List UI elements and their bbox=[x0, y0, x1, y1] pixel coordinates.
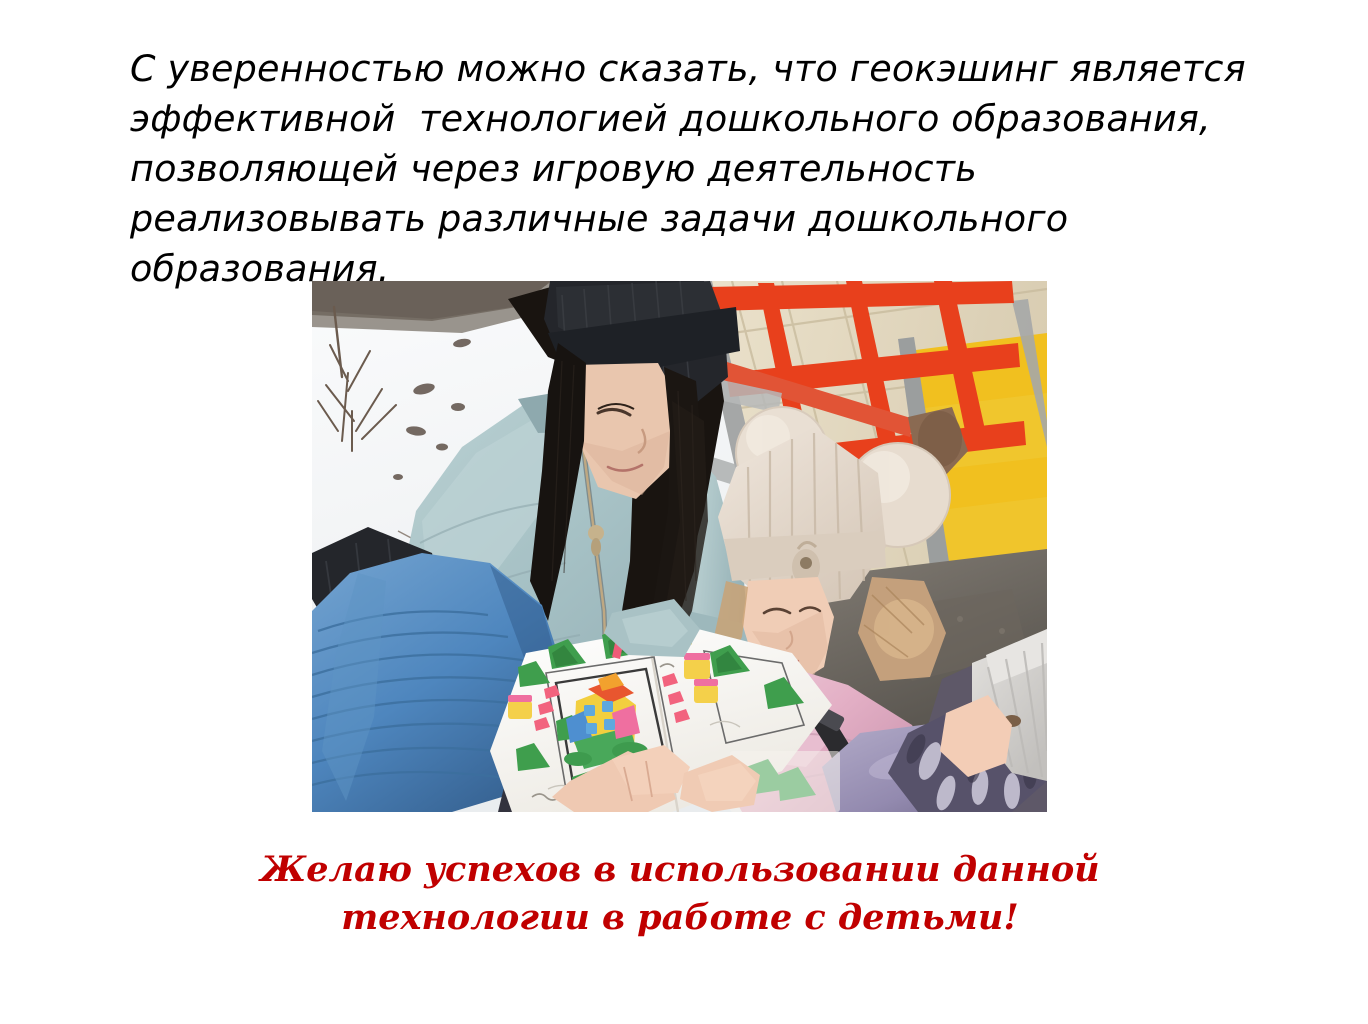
body-paragraph: С уверенностью можно сказать, что геокэш… bbox=[130, 44, 1250, 294]
photo-illustration bbox=[312, 281, 1047, 812]
closing-caption: Желаю успехов в использовании данной тех… bbox=[150, 846, 1210, 942]
slide-canvas: С уверенностью можно сказать, что геокэш… bbox=[0, 0, 1368, 1024]
photo-geocaching-activity bbox=[312, 281, 1047, 812]
